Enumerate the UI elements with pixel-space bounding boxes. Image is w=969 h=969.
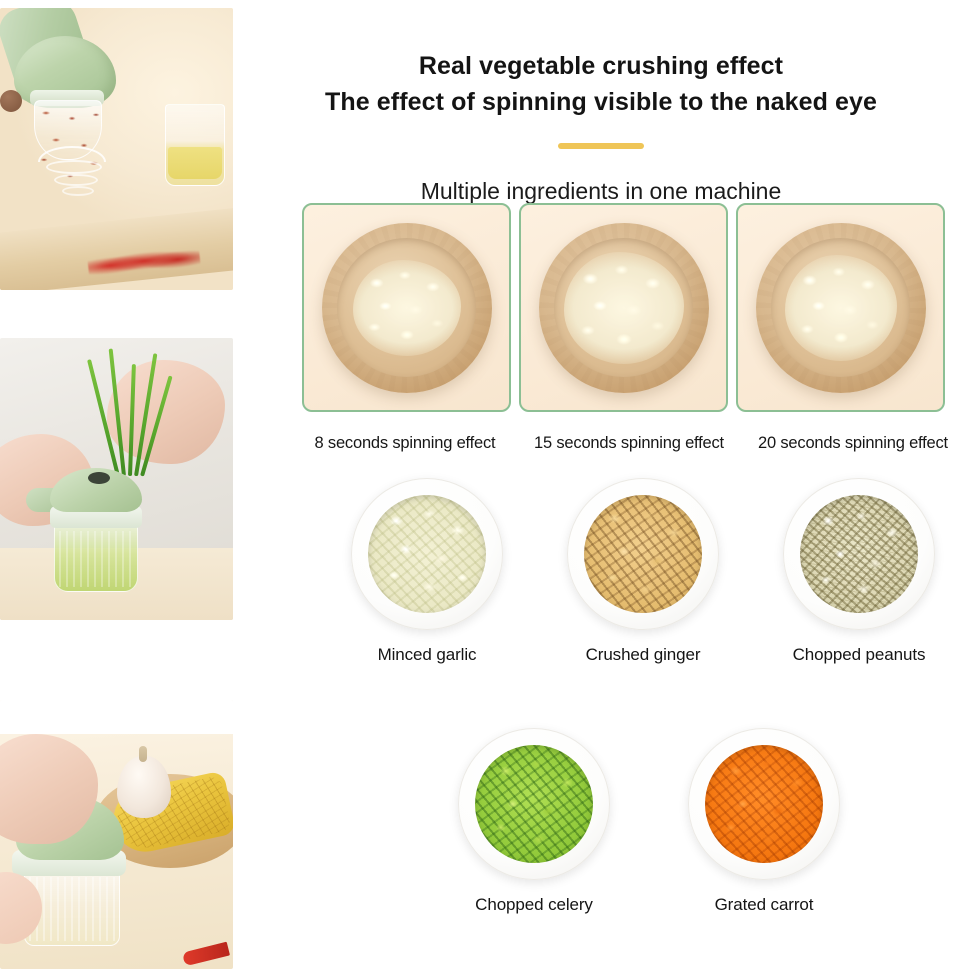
- chopped-celery-contents: [475, 745, 593, 863]
- photo-top-margin: [0, 700, 233, 734]
- ingredient-cell-chopped-peanuts: Chopped peanuts: [775, 478, 943, 666]
- bowl-chopped-peanuts: [783, 478, 935, 630]
- ingredient-cell-minced-garlic: Minced garlic: [343, 478, 511, 666]
- bowl-grated-carrot: [688, 728, 840, 880]
- garlic-bulb: [117, 756, 171, 818]
- product-photo-column: [0, 0, 233, 969]
- chopper-clear-cup: [54, 524, 138, 592]
- minced-garlic-contents: [368, 495, 486, 613]
- bowl-label-chopped-celery: Chopped celery: [450, 894, 618, 916]
- spin-result-card-15s: [519, 203, 728, 412]
- spin-swirl-line: [62, 186, 94, 196]
- chopper-feed-hole: [88, 472, 110, 484]
- wooden-plate: [756, 223, 926, 393]
- product-photo-chopper-crushing-chili: [0, 8, 233, 290]
- thumb: [0, 90, 22, 112]
- title-line-2: The effect of spinning visible to the na…: [233, 84, 969, 120]
- product-photo-chopper-chopping-scallions: [0, 338, 233, 620]
- bowl-label-crushed-ginger: Crushed ginger: [559, 644, 727, 666]
- spin-caption-8s: 8 seconds spinning effect: [293, 432, 517, 454]
- accent-divider: [558, 143, 644, 149]
- content-area: Real vegetable crushing effect The effec…: [233, 0, 969, 969]
- divider-container: [233, 136, 969, 154]
- spin-caption-15s: 15 seconds spinning effect: [517, 432, 741, 454]
- page-subtitle: Multiple ingredients in one machine: [233, 176, 969, 206]
- spin-result-card-8s: [302, 203, 511, 412]
- ingredient-bowl-row-2: Chopped celery Grated carrot: [423, 728, 875, 916]
- page-title: Real vegetable crushing effect The effec…: [233, 48, 969, 120]
- product-photo-chopper-with-garlic-corn: [0, 700, 233, 969]
- bowl-chopped-celery: [458, 728, 610, 880]
- ingredient-cell-chopped-celery: Chopped celery: [450, 728, 618, 916]
- bowl-label-minced-garlic: Minced garlic: [343, 644, 511, 666]
- ingredient-cell-grated-carrot: Grated carrot: [680, 728, 848, 916]
- spin-result-caption-row: 8 seconds spinning effect 15 seconds spi…: [293, 432, 965, 454]
- minced-garlic-pile: [564, 252, 684, 364]
- spin-result-card-20s: [736, 203, 945, 412]
- bowl-minced-garlic: [351, 478, 503, 630]
- wooden-plate: [539, 223, 709, 393]
- spin-result-card-row: [302, 203, 945, 412]
- oil-glass: [165, 104, 225, 186]
- crushed-ginger-contents: [584, 495, 702, 613]
- ingredient-cell-crushed-ginger: Crushed ginger: [559, 478, 727, 666]
- chopped-peanuts-contents: [800, 495, 918, 613]
- bowl-crushed-ginger: [567, 478, 719, 630]
- grated-carrot-contents: [705, 745, 823, 863]
- wooden-plate: [322, 223, 492, 393]
- scallion-bunch: [92, 346, 164, 476]
- ingredient-bowl-row-1: Minced garlic Crushed ginger Chopped pea…: [313, 478, 969, 666]
- minced-garlic-pile: [785, 255, 897, 361]
- bowl-label-chopped-peanuts: Chopped peanuts: [775, 644, 943, 666]
- minced-garlic-pile: [353, 260, 461, 356]
- spin-swirl-line: [46, 160, 102, 174]
- title-line-1: Real vegetable crushing effect: [419, 52, 783, 80]
- spin-caption-20s: 20 seconds spinning effect: [741, 432, 965, 454]
- spin-swirl-line: [54, 174, 98, 186]
- product-infographic-page: Real vegetable crushing effect The effec…: [0, 0, 969, 969]
- bowl-label-grated-carrot: Grated carrot: [680, 894, 848, 916]
